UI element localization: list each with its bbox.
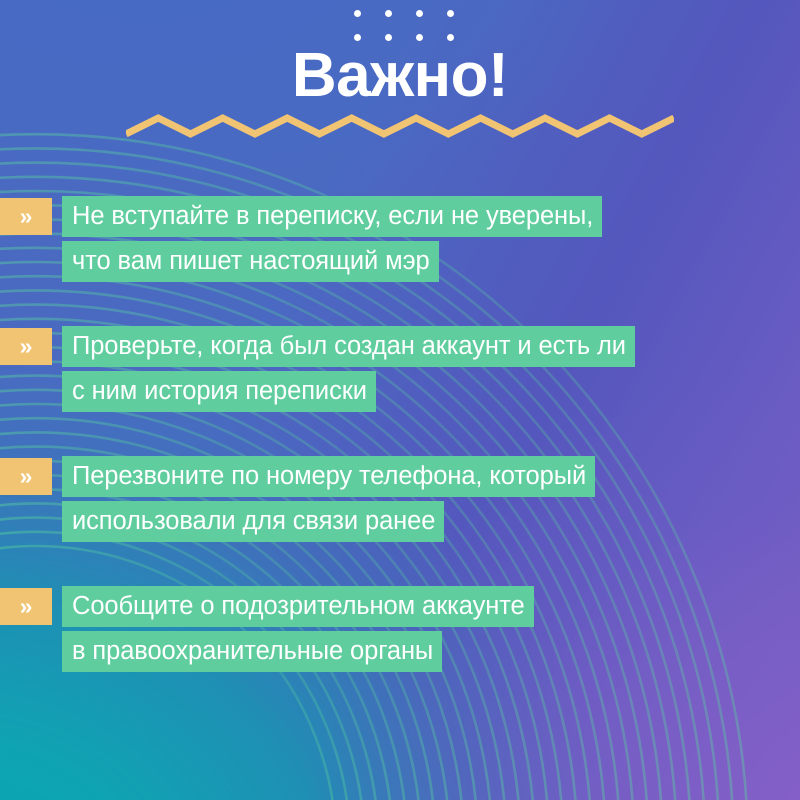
- advice-text-line: Проверьте, когда был создан аккаунт и ес…: [62, 326, 635, 367]
- advice-text-line: использовали для связи ранее: [62, 501, 444, 542]
- advice-item: »Перезвоните по номеру телефона, который…: [0, 456, 800, 542]
- chevron-double-right-icon: »: [0, 458, 52, 495]
- advice-item: »Не вступайте в переписку, если не увере…: [0, 196, 800, 282]
- chevron-double-right-icon: »: [0, 328, 52, 365]
- advice-text-line: с ним история переписки: [62, 371, 376, 412]
- advice-text-line: в правоохранительные органы: [62, 631, 442, 672]
- advice-item: »Проверьте, когда был создан аккаунт и е…: [0, 326, 800, 412]
- page-title: Важно!: [0, 41, 800, 111]
- dot-decoration: [354, 10, 361, 17]
- advice-text-block: Сообщите о подозрительном аккаунтев прав…: [62, 586, 800, 672]
- advice-text-block: Проверьте, когда был создан аккаунт и ес…: [62, 326, 800, 412]
- dot-decoration: [447, 34, 454, 41]
- dot-decoration: [416, 34, 423, 41]
- advice-item: »Сообщите о подозрительном аккаунтев пра…: [0, 586, 800, 672]
- dot-grid-decoration: [352, 8, 455, 42]
- dot-decoration: [416, 10, 423, 17]
- dot-decoration: [354, 34, 361, 41]
- zigzag-divider: [126, 112, 674, 142]
- advice-text-line: Перезвоните по номеру телефона, который: [62, 456, 595, 497]
- advice-text-block: Не вступайте в переписку, если не уверен…: [62, 196, 800, 282]
- dot-decoration: [385, 34, 392, 41]
- chevron-double-right-icon: »: [0, 198, 52, 235]
- chevron-double-right-icon: »: [0, 588, 52, 625]
- advice-text-block: Перезвоните по номеру телефона, которыйи…: [62, 456, 800, 542]
- dot-decoration: [385, 10, 392, 17]
- advice-text-line: Сообщите о подозрительном аккаунте: [62, 586, 534, 627]
- advice-text-line: Не вступайте в переписку, если не уверен…: [62, 196, 602, 237]
- poster-root: Важно! »Не вступайте в переписку, если н…: [0, 0, 800, 800]
- advice-list: »Не вступайте в переписку, если не увере…: [0, 196, 800, 716]
- advice-text-line: что вам пишет настоящий мэр: [62, 241, 439, 282]
- dot-decoration: [447, 10, 454, 17]
